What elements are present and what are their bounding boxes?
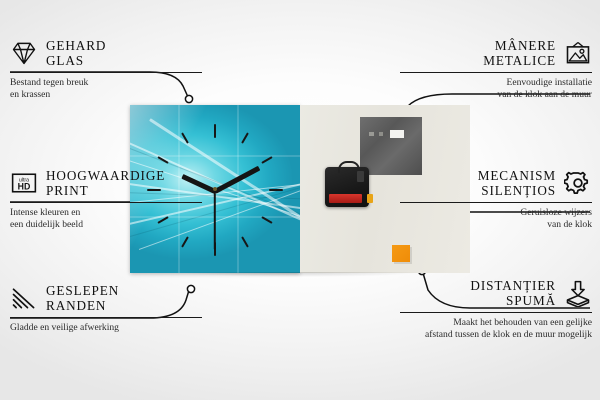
feature-header: DISTANȚIER SPUMĂ — [400, 278, 592, 308]
feature-description: Geruisloze wijzers van de klok — [400, 207, 592, 230]
ultra-hd-icon: ultra HD — [10, 169, 38, 197]
clock-second-hand — [214, 190, 216, 250]
foam-spacer-icon — [564, 279, 592, 307]
svg-text:HD: HD — [18, 182, 31, 192]
gear-icon — [564, 169, 592, 197]
feature-title: DISTANȚIER SPUMĂ — [470, 278, 556, 308]
feature-description: Maakt het behouden van een gelijke afsta… — [377, 317, 592, 340]
feature-title: HOOGWAARDIGE PRINT — [46, 168, 165, 198]
infographic-canvas: GEHARD GLAS Bestand tegen breuk en krass… — [0, 0, 600, 400]
feature-header: GESLEPEN RANDEN — [10, 283, 202, 313]
feature-title: MECANISM SILENȚIOS — [478, 168, 556, 198]
feature-distantier-spuma[interactable]: DISTANȚIER SPUMĂ Maakt het behouden van … — [400, 278, 592, 340]
feature-title: GESLEPEN RANDEN — [46, 283, 119, 313]
movement-adjust-knob — [357, 171, 364, 182]
feature-manere-metalice[interactable]: MÂNERE METALICE Eenvoudige installatie v… — [400, 38, 592, 100]
feature-header: ultra HD HOOGWAARDIGE PRINT — [10, 168, 202, 198]
feature-description: Gladde en veilige afwerking — [10, 322, 202, 334]
hanger-plate — [360, 117, 422, 175]
battery — [329, 194, 362, 203]
feature-gehard-glas[interactable]: GEHARD GLAS Bestand tegen breuk en krass… — [10, 38, 202, 100]
foam-spacer — [392, 245, 410, 262]
feature-hoogwaardige-print[interactable]: ultra HD HOOGWAARDIGE PRINT Intense kleu… — [10, 168, 202, 230]
hanger-slot — [390, 130, 404, 138]
feature-mecanism-silentios[interactable]: MECANISM SILENȚIOS Geruisloze wijzers va… — [400, 168, 592, 230]
feature-geslepen-randen[interactable]: GESLEPEN RANDEN Gladde en veilige afwerk… — [10, 283, 202, 334]
feature-title: GEHARD GLAS — [46, 38, 106, 68]
feature-divider — [400, 202, 592, 203]
feature-divider — [10, 202, 202, 203]
polished-edges-icon — [10, 284, 38, 312]
feature-description: Intense kleuren en een duidelijk beeld — [10, 207, 202, 230]
hanger-screw-1 — [369, 132, 374, 136]
quartz-movement — [325, 167, 369, 207]
battery-terminal — [367, 194, 373, 203]
feature-divider — [400, 72, 592, 73]
feature-title: MÂNERE METALICE — [483, 38, 556, 68]
feature-header: MECANISM SILENȚIOS — [400, 168, 592, 198]
diamond-icon — [10, 39, 38, 67]
feature-header: MÂNERE METALICE — [400, 38, 592, 68]
clock-minute-hand — [214, 166, 260, 194]
feature-divider — [10, 72, 202, 73]
hanger-screw-2 — [379, 132, 383, 136]
feature-header: GEHARD GLAS — [10, 38, 202, 68]
feature-description: Eenvoudige installatie van de klok aan d… — [400, 77, 592, 100]
feature-divider — [10, 317, 202, 318]
picture-frame-icon — [564, 39, 592, 67]
clock-pivot — [213, 187, 217, 191]
feature-description: Bestand tegen breuk en krassen — [10, 77, 202, 100]
feature-divider — [400, 312, 592, 313]
